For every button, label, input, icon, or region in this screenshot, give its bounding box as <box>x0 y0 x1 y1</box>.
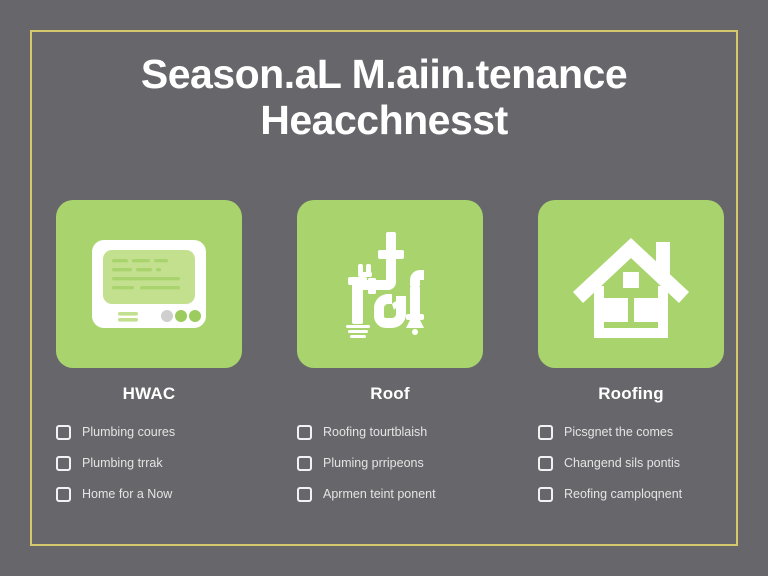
list-item[interactable]: Roofing tourtblaish <box>297 417 483 448</box>
icon-card-roofing <box>538 200 724 368</box>
checkbox-icon[interactable] <box>538 456 553 471</box>
list-item[interactable]: Picsgnet the comes <box>538 417 724 448</box>
checklist-column-roofing: Roofing Picsgnet the comes Changend sils… <box>538 200 724 526</box>
checklist-hvac: Plumbing coures Plumbing trrak Home for … <box>56 417 242 510</box>
list-item[interactable]: Plumbing coures <box>56 417 242 448</box>
list-item[interactable]: Changend sils pontis <box>538 448 724 479</box>
plumbing-pipes-icon <box>334 228 446 340</box>
list-item-label: Home for a Now <box>82 488 172 502</box>
checkbox-icon[interactable] <box>297 487 312 502</box>
column-heading-hvac: HWAC <box>56 384 242 404</box>
column-heading-roof: Roof <box>297 384 483 404</box>
list-item[interactable]: Plumbing trrak <box>56 448 242 479</box>
list-item-label: Reofing camploqnent <box>564 488 682 502</box>
checklist-columns: HWAC Plumbing coures Plumbing trrak Home… <box>56 200 724 526</box>
icon-card-hvac <box>56 200 242 368</box>
house-roof-icon <box>572 230 690 338</box>
poster-canvas: Season.aL M.aiin.tenance Heacchnesst <box>0 0 768 576</box>
list-item[interactable]: Reofing camploqnent <box>538 479 724 510</box>
list-item[interactable]: Pluming prripeons <box>297 448 483 479</box>
checkbox-icon[interactable] <box>538 487 553 502</box>
checklist-column-hvac: HWAC Plumbing coures Plumbing trrak Home… <box>56 200 242 526</box>
checkbox-icon[interactable] <box>297 456 312 471</box>
list-item-label: Aprmen teint ponent <box>323 488 436 502</box>
checkbox-icon[interactable] <box>56 425 71 440</box>
checkbox-icon[interactable] <box>56 487 71 502</box>
list-item-label: Pluming prripeons <box>323 457 424 471</box>
list-item-label: Picsgnet the comes <box>564 426 673 440</box>
list-item[interactable]: Aprmen teint ponent <box>297 479 483 510</box>
checklist-roof: Roofing tourtblaish Pluming prripeons Ap… <box>297 417 483 510</box>
list-item-label: Plumbing coures <box>82 426 175 440</box>
list-item-label: Changend sils pontis <box>564 457 680 471</box>
checklist-roofing: Picsgnet the comes Changend sils pontis … <box>538 417 724 510</box>
checkbox-icon[interactable] <box>297 425 312 440</box>
list-item[interactable]: Home for a Now <box>56 479 242 510</box>
icon-card-plumbing <box>297 200 483 368</box>
hvac-vent-icon <box>90 238 208 330</box>
checklist-column-roof: Roof Roofing tourtblaish Pluming prripeo… <box>297 200 483 526</box>
checkbox-icon[interactable] <box>538 425 553 440</box>
column-heading-roofing: Roofing <box>538 384 724 404</box>
list-item-label: Plumbing trrak <box>82 457 163 471</box>
checkbox-icon[interactable] <box>56 456 71 471</box>
page-title: Season.aL M.aiin.tenance Heacchnesst <box>50 52 718 144</box>
list-item-label: Roofing tourtblaish <box>323 426 427 440</box>
